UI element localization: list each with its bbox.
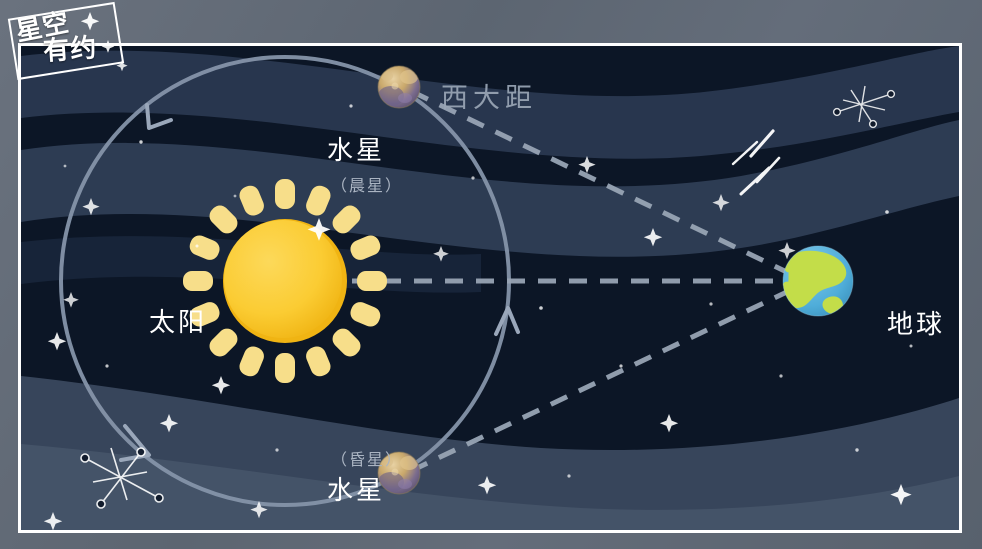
- label-greatest-western-elongation: 西大距: [441, 76, 537, 115]
- label-greatest-eastern-elongation: 东大距: [441, 528, 537, 533]
- label-morning-star: （晨星）: [331, 172, 403, 196]
- night-sky-canvas: [21, 46, 959, 530]
- label-evening-star: （昏星）: [331, 446, 403, 470]
- label-mercury-evening: 水星: [327, 470, 385, 507]
- sun-disc: [224, 220, 342, 338]
- logo-sparkles: [4, 2, 139, 82]
- label-sun: 太阳: [149, 302, 207, 339]
- brand-logo: 星空 有约: [4, 2, 139, 82]
- mercury-morning-body: [378, 66, 420, 108]
- artwork-frame: 太阳 地球 水星 （晨星） 水星 （昏星） 西大距 东大距: [18, 43, 962, 533]
- label-mercury-morning: 水星: [327, 130, 385, 167]
- diagram-svg: [21, 46, 959, 530]
- label-earth: 地球: [887, 304, 945, 341]
- poster-root: 太阳 地球 水星 （晨星） 水星 （昏星） 西大距 东大距 星空 有约: [0, 0, 982, 549]
